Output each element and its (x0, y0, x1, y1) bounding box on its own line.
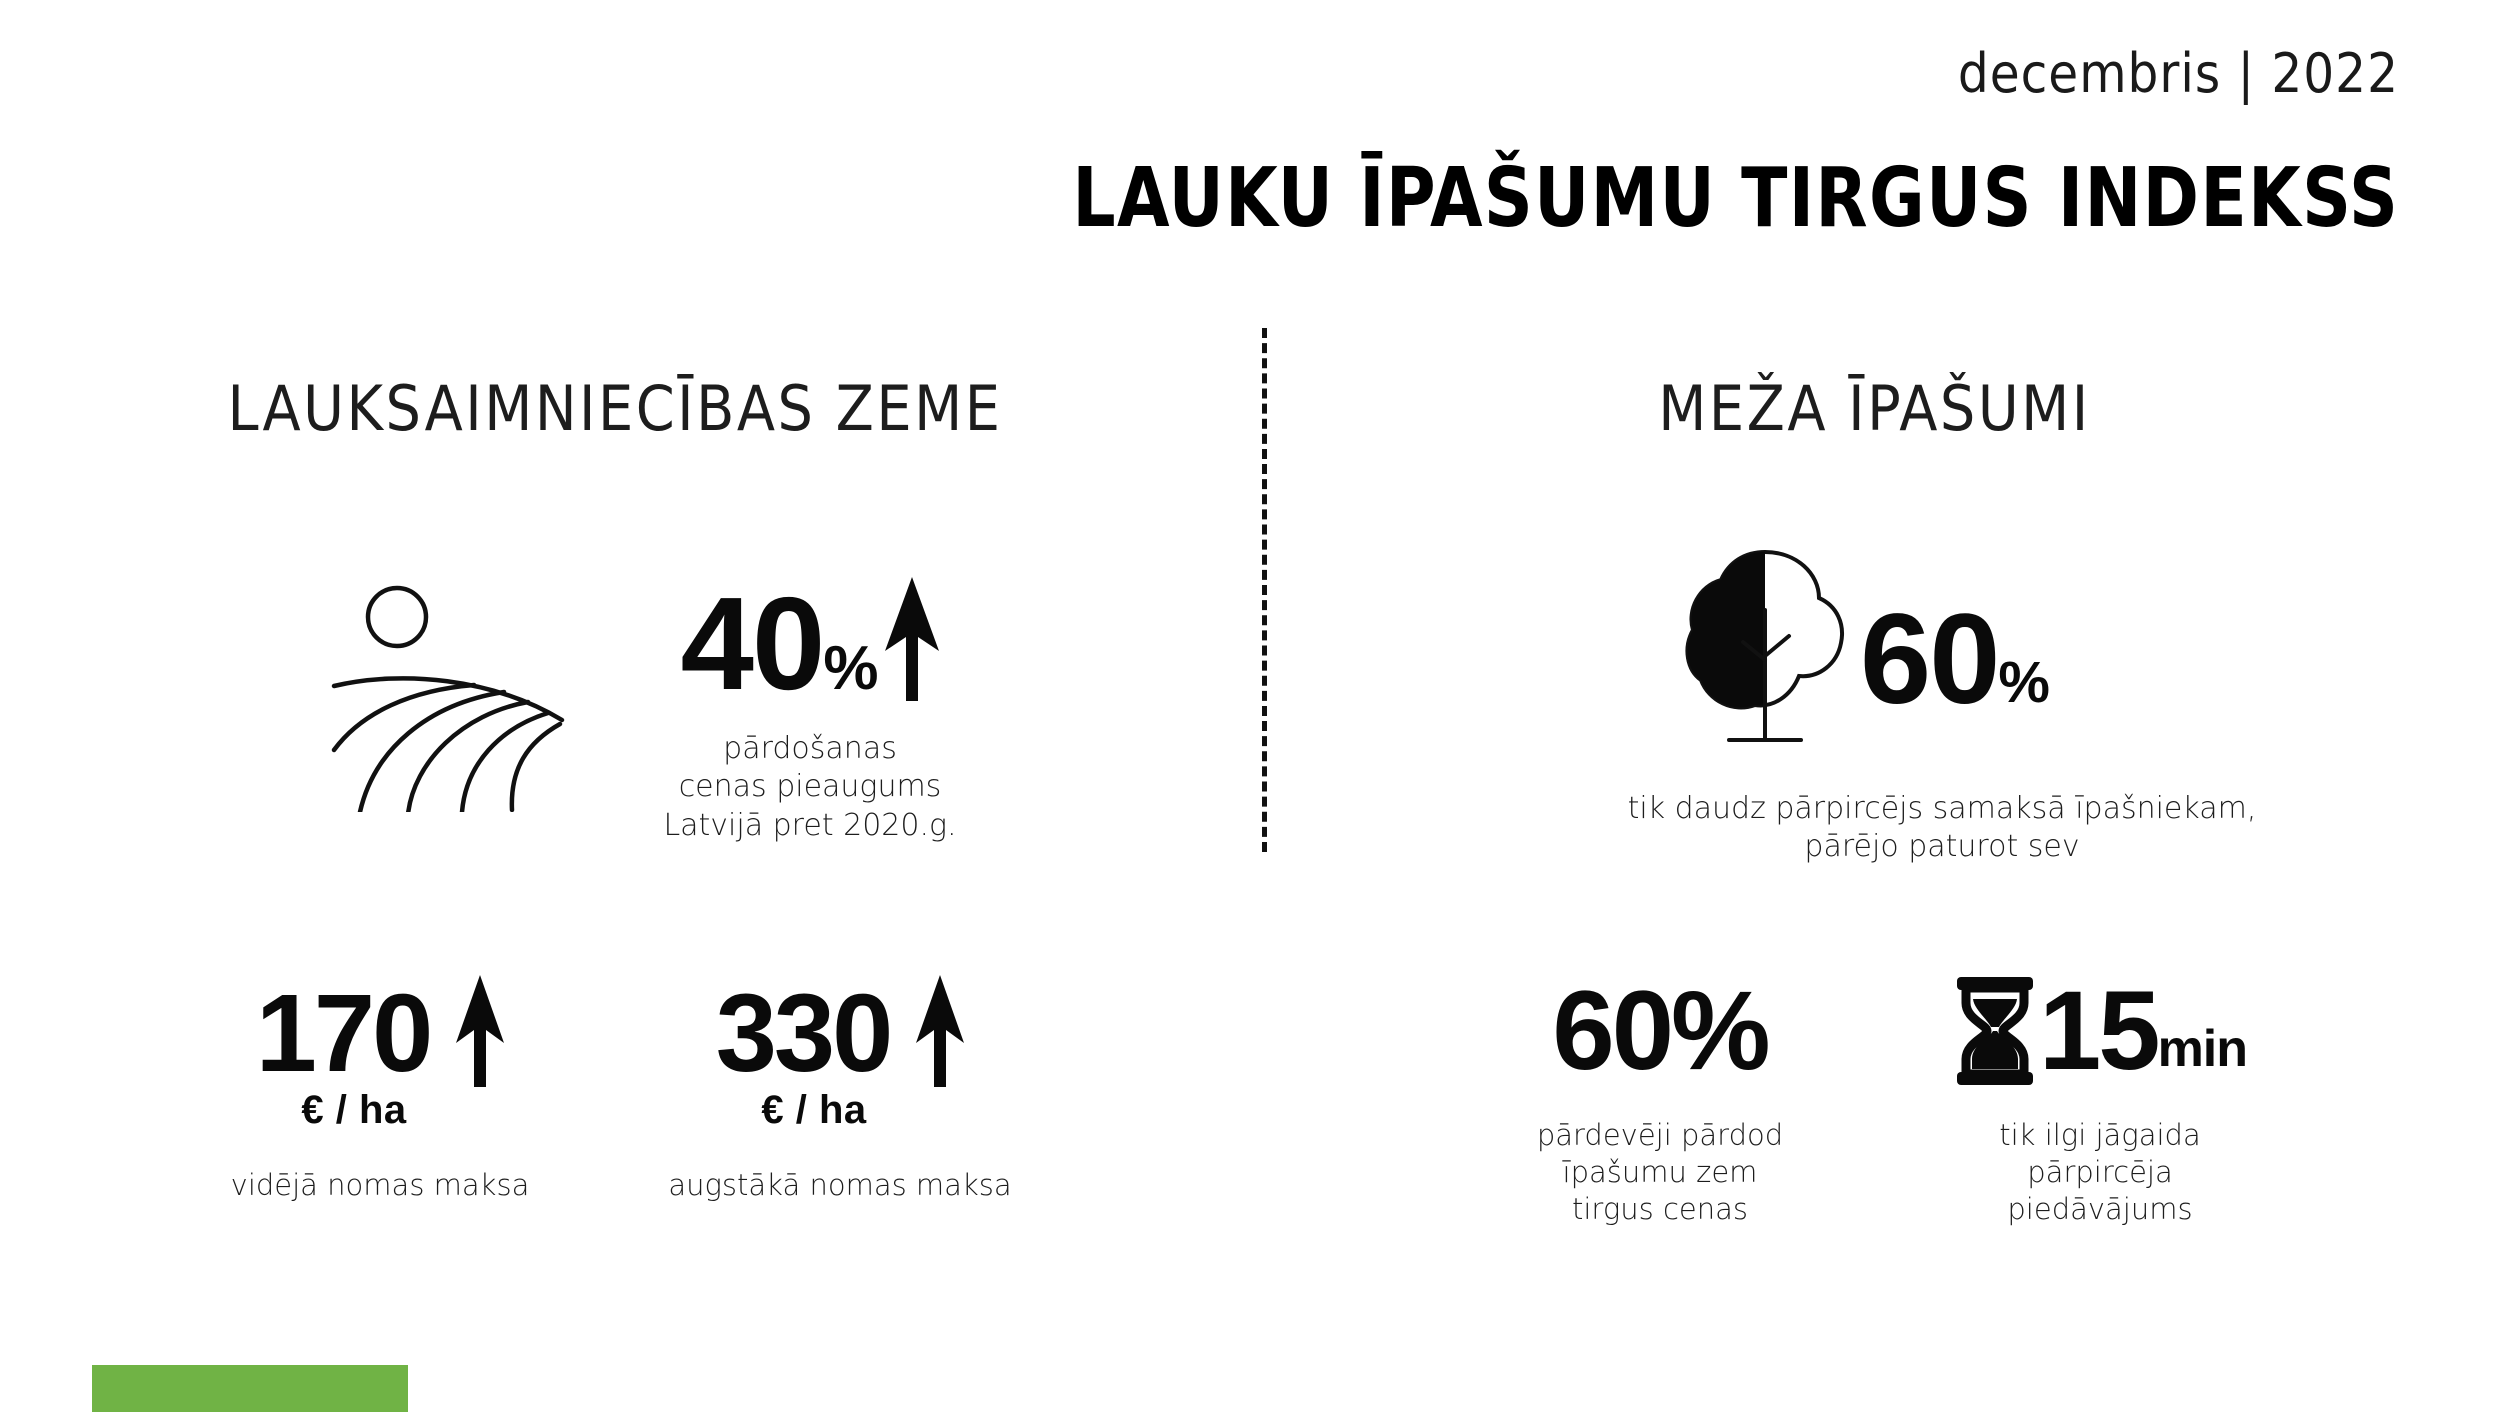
below-market-value: 60% (1470, 975, 1850, 1087)
average-rent-unit: € / ha (128, 1088, 580, 1133)
arrow-up-icon (456, 975, 504, 1092)
left-section-heading: LAUKSAIMNIECĪBAS ZEME (0, 372, 1246, 445)
highest-rent-value: 330 (716, 979, 891, 1089)
below-market-stat: 60% pārdevēji pārdod īpašumu zem tirgus … (1470, 975, 1850, 1228)
arrow-up-icon (885, 577, 939, 706)
price-growth-unit: % (823, 638, 877, 700)
average-rent-value: 170 (256, 979, 431, 1089)
average-rent-caption: vidējā nomas maksa (180, 1167, 580, 1204)
page-title: LAUKU ĪPAŠUMU TIRGUS INDEKSS (1072, 158, 2399, 240)
highest-rent-stat: 330 € / ha augstākā nomas maksa (640, 975, 1040, 1204)
below-market-caption: pārdevēji pārdod īpašumu zem tirgus cena… (1470, 1117, 1850, 1228)
tree-half-filled-icon (1685, 548, 1845, 758)
accent-bar (92, 1365, 408, 1412)
wait-time-caption: tik ilgi jāgaida pārpircēja piedāvājums (1910, 1117, 2290, 1228)
infographic-page: decembris | 2022 LAUKU ĪPAŠUMU TIRGUS IN… (0, 0, 2499, 1412)
price-growth-value: 40 (681, 578, 824, 710)
field-sun-icon (322, 582, 602, 812)
right-section-heading: MEŽA ĪPAŠUMI (1256, 372, 2493, 445)
reseller-share-stat: 60 % (1860, 596, 2049, 724)
reseller-share-caption: tik daudz pārpircējs samaksā īpašniekam,… (1562, 790, 2322, 867)
reseller-share-unit: % (1998, 649, 2049, 716)
average-rent-stat: 170 € / ha vidējā nomas maksa (180, 975, 580, 1204)
highest-rent-unit: € / ha (588, 1088, 1040, 1133)
highest-rent-caption: augstākā nomas maksa (640, 1167, 1040, 1204)
header-date: decembris | 2022 (1958, 42, 2399, 105)
arrow-up-icon (916, 975, 964, 1092)
wait-time-stat: 15 min tik ilgi jāgaida pārpircēja piedā… (1910, 975, 2290, 1228)
reseller-share-value: 60 (1860, 596, 1998, 724)
wait-time-unit: min (2158, 1019, 2247, 1079)
price-growth-caption: pārdošanas cenas pieaugums Latvijā pret … (600, 730, 1020, 845)
hourglass-icon (1953, 977, 2037, 1085)
price-growth-stat: 40 % pārdošanas cenas pieaugums Latvijā … (600, 570, 1020, 845)
wait-time-value: 15 (2039, 975, 2158, 1087)
